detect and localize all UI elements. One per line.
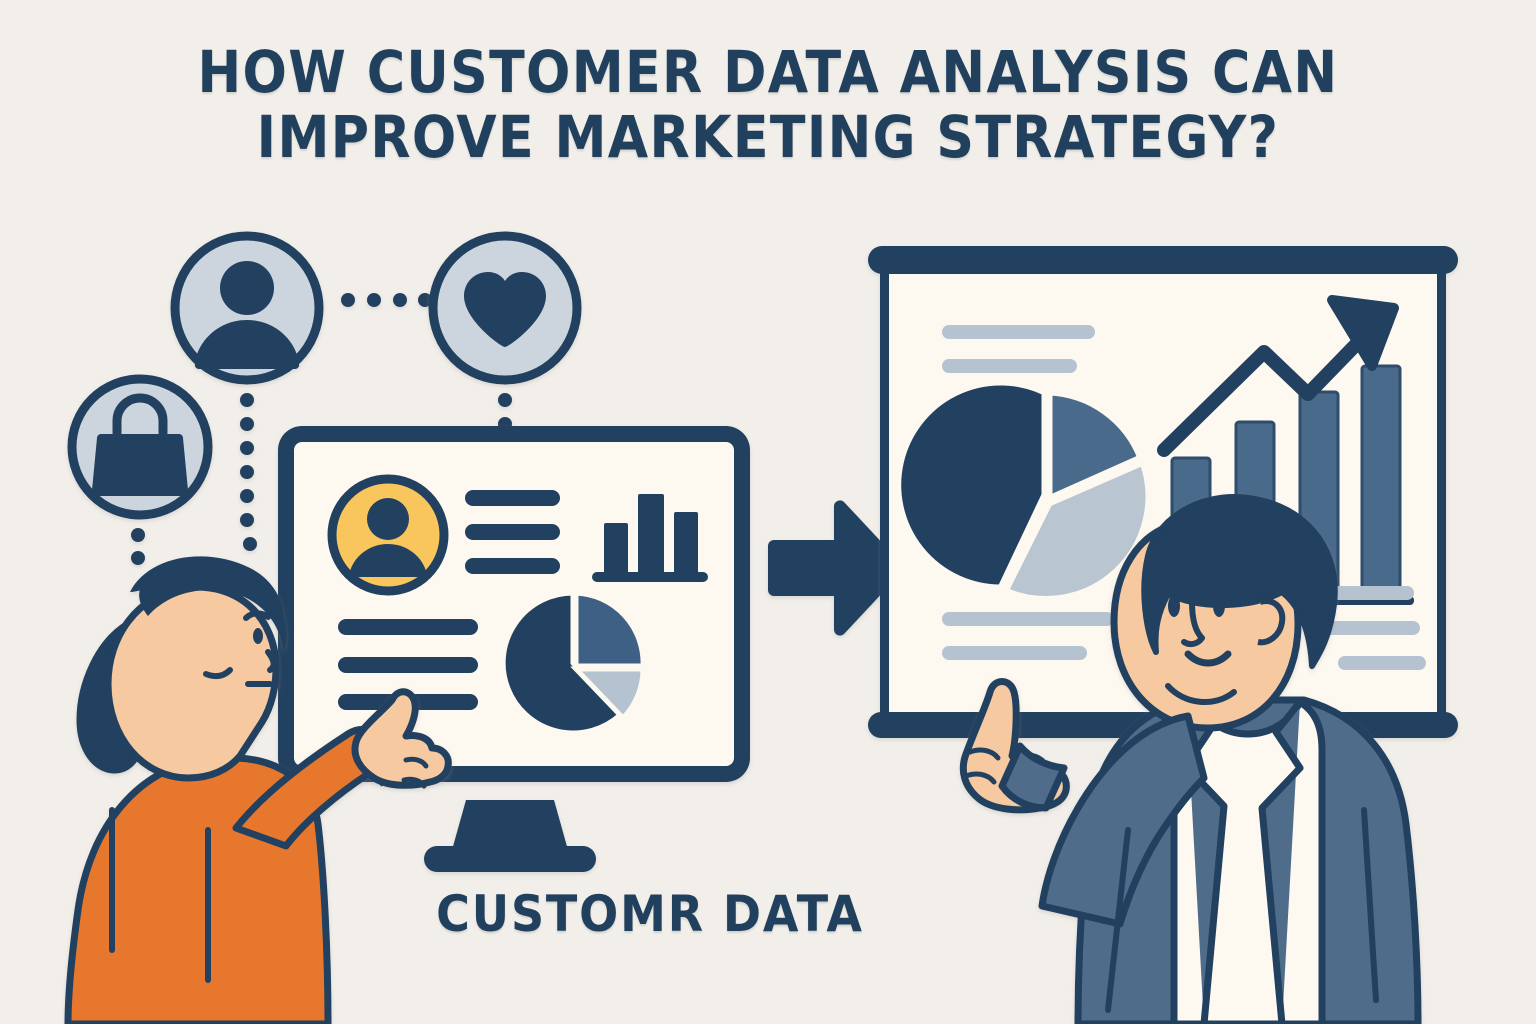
screen-text-lines-top [465, 490, 560, 574]
monitor-pie-chart [503, 593, 643, 733]
icon-group-user[interactable] [175, 236, 319, 380]
icon-group-bag[interactable] [72, 379, 208, 515]
illustration-canvas: HOW CUSTOMER DATA ANALYSIS CAN IMPROVE M… [0, 0, 1536, 1024]
board-pie-chart [898, 382, 1149, 599]
avatar-yellow [332, 479, 444, 591]
caption-label: CUSTOMR DATA [328, 885, 972, 943]
page-title: HOW CUSTOMER DATA ANALYSIS CAN IMPROVE M… [77, 40, 1459, 170]
icon-group-heart[interactable] [433, 236, 577, 380]
bag-body-icon [92, 434, 188, 496]
